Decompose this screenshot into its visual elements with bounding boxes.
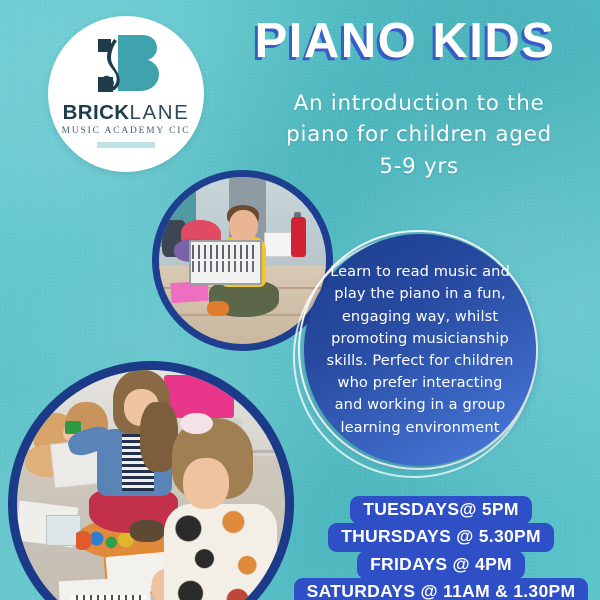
logo-brand-secondary: LANE: [129, 101, 189, 124]
bricklane-logo: BRICKLANE MUSIC ACADEMY CIC: [48, 16, 204, 172]
description-text: Learn to read music and play the piano i…: [325, 261, 515, 438]
subtitle-line-2: piano for children aged: [244, 119, 594, 150]
schedule-item-tuesday: TUESDAYS@ 5PM: [350, 496, 532, 524]
piano-kids-poster: BRICKLANE MUSIC ACADEMY CIC PIANO KIDS A…: [0, 0, 600, 600]
logo-brand-primary: BRICK: [63, 101, 130, 124]
schedule-list: TUESDAYS@ 5PM THURSDAYS @ 5.30PM FRIDAYS…: [296, 496, 586, 600]
bricklane-b-treble-clef-icon: [48, 33, 204, 97]
schedule-item-saturday: SATURDAYS @ 11AM & 1.30PM: [294, 578, 589, 600]
description-circle: Learn to read music and play the piano i…: [304, 234, 536, 466]
description-callout: Learn to read music and play the piano i…: [304, 234, 536, 466]
schedule-item-thursday: THURSDAYS @ 5.30PM: [328, 523, 554, 551]
subtitle-line-1: An introduction to the: [244, 88, 594, 119]
schedule-item-friday: FRIDAYS @ 4PM: [357, 551, 525, 579]
page-title: PIANO KIDS: [215, 16, 595, 68]
logo-wordmark: BRICKLANE: [48, 103, 204, 124]
subtitle: An introduction to the piano for childre…: [244, 88, 594, 182]
logo-accent-bar: [97, 142, 155, 148]
two-girls-group-learning-photo: [8, 361, 294, 600]
logo-tagline: MUSIC ACADEMY CIC: [48, 126, 204, 136]
